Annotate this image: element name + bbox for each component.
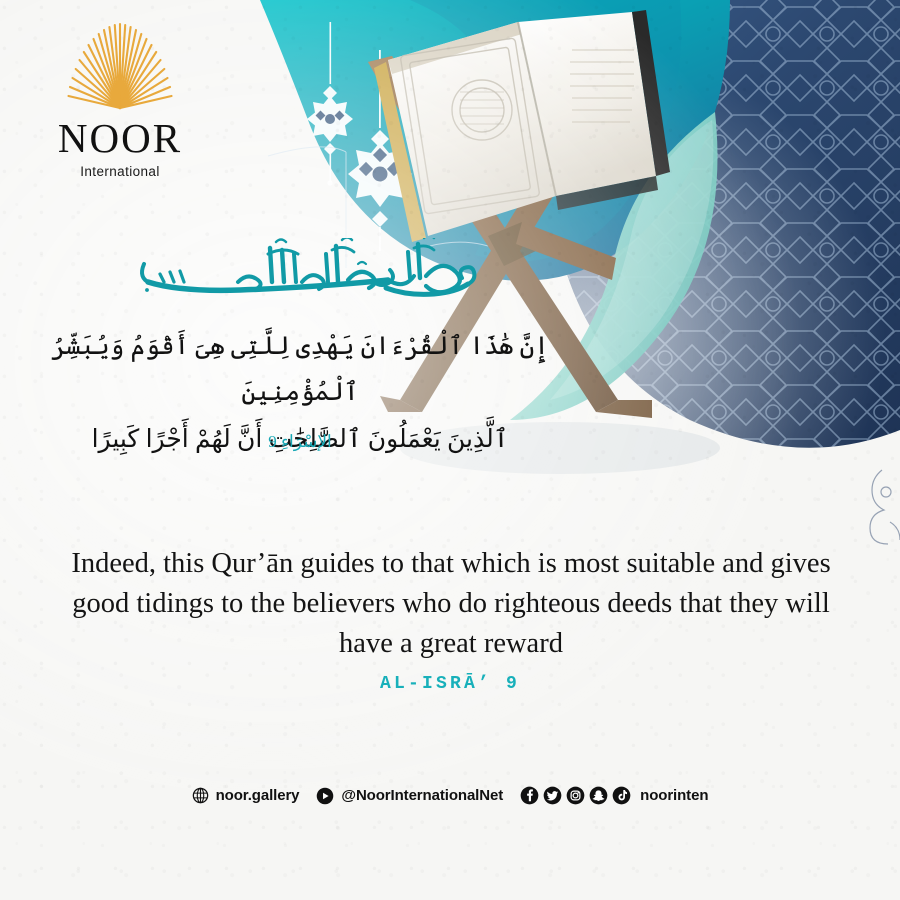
footer-website[interactable]: noor.gallery: [192, 787, 300, 804]
arabic-verse-line-1: إِنَّ هَٰذَا ٱلْقُرْءَانَ يَهْدِى لِلَّت…: [20, 324, 580, 417]
brand-name: NOOR: [30, 118, 210, 159]
arabic-reference: الإسْرَاءِ 9: [20, 432, 580, 452]
footer-youtube[interactable]: @NoorInternationalNet: [316, 787, 503, 805]
edge-ornament-icon: [870, 470, 900, 544]
youtube-icon: [316, 787, 334, 805]
brand-subtitle: International: [30, 164, 210, 179]
footer-social-bar: noor.gallery @NoorInternationalNet: [0, 786, 900, 805]
sunburst-book-icon: [50, 22, 190, 114]
globe-icon: [192, 787, 209, 804]
brand-logo: NOOR International: [30, 22, 210, 179]
tiktok-icon[interactable]: [612, 786, 631, 805]
twitter-icon[interactable]: [543, 786, 562, 805]
youtube-label: @NoorInternationalNet: [341, 787, 503, 804]
website-label: noor.gallery: [216, 787, 300, 804]
instagram-icon[interactable]: [566, 786, 585, 805]
poster-canvas: NOOR International: [0, 0, 900, 900]
facebook-icon[interactable]: [520, 786, 539, 805]
basmala: [0, 238, 600, 300]
english-reference: AL-ISRĀ’ 9: [0, 674, 900, 694]
social-handle-label: noorinten: [640, 787, 708, 804]
english-translation: Indeed, this Qur’ān guides to that which…: [45, 544, 857, 664]
snapchat-icon[interactable]: [589, 786, 608, 805]
footer-social[interactable]: noorinten: [520, 786, 708, 805]
basmala-calligraphy-icon: [120, 238, 480, 300]
